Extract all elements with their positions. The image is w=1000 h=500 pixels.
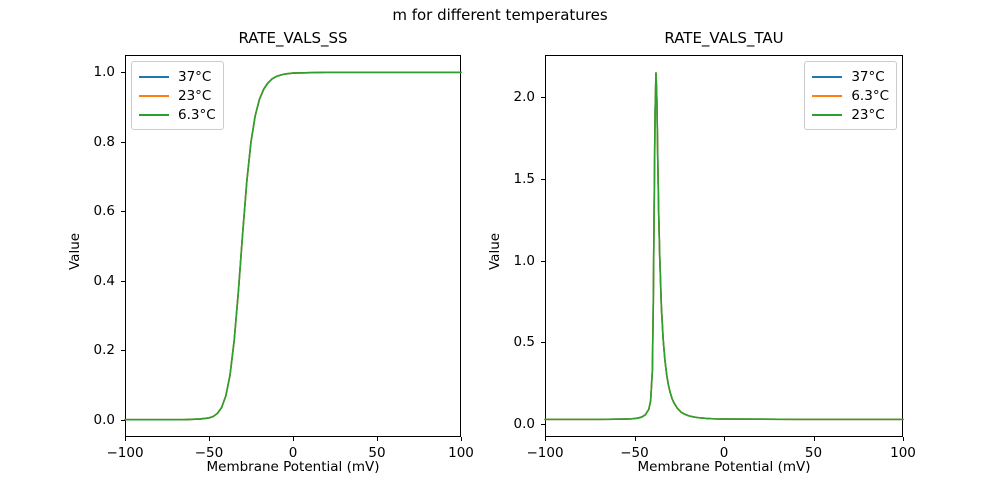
ytick-mark <box>121 350 125 351</box>
ytick-mark <box>541 97 545 98</box>
xtick-mark <box>814 437 815 441</box>
ytick-label: 0.5 <box>489 334 535 350</box>
ytick-mark <box>121 211 125 212</box>
axes-title-ss: RATE_VALS_SS <box>125 29 461 47</box>
ytick-mark <box>121 281 125 282</box>
legend-line-swatch <box>812 95 842 97</box>
xtick-mark <box>293 437 294 441</box>
ytick-mark <box>541 342 545 343</box>
ytick-mark <box>541 261 545 262</box>
xtick-mark <box>125 437 126 441</box>
ytick-mark <box>121 72 125 73</box>
axes-rate-vals-tau: RATE_VALS_TAU −100−500501000.00.51.01.52… <box>545 55 903 437</box>
xtick-mark <box>209 437 210 441</box>
legend-label: 6.3°C <box>851 88 889 104</box>
xtick-mark <box>635 437 636 441</box>
ytick-label: 2.0 <box>489 89 535 105</box>
ytick-label: 0.4 <box>69 273 115 289</box>
xtick-mark <box>724 437 725 441</box>
legend-ss[interactable]: 37°C23°C6.3°C <box>131 61 224 130</box>
ytick-mark <box>541 179 545 180</box>
xlabel-ss: Membrane Potential (mV) <box>125 459 461 475</box>
ytick-label: 0.0 <box>69 412 115 428</box>
legend-tau[interactable]: 37°C6.3°C23°C <box>804 61 897 130</box>
xtick-mark <box>377 437 378 441</box>
ytick-label: 1.0 <box>69 64 115 80</box>
ytick-label: 0.6 <box>69 203 115 219</box>
legend-entry[interactable]: 6.3°C <box>139 105 216 124</box>
legend-label: 37°C <box>851 69 884 85</box>
figure-suptitle: m for different temperatures <box>0 6 1000 24</box>
xtick-mark <box>461 437 462 441</box>
legend-line-swatch <box>812 76 842 78</box>
xlabel-tau: Membrane Potential (mV) <box>545 459 903 475</box>
ylabel-ss: Value <box>67 233 83 270</box>
legend-label: 6.3°C <box>178 107 216 123</box>
legend-entry[interactable]: 6.3°C <box>812 86 889 105</box>
ytick-label: 0.2 <box>69 342 115 358</box>
ytick-mark <box>121 142 125 143</box>
legend-label: 23°C <box>178 88 211 104</box>
ylabel-tau: Value <box>487 233 503 270</box>
legend-line-swatch <box>139 114 169 116</box>
legend-line-swatch <box>139 76 169 78</box>
legend-entry[interactable]: 37°C <box>812 67 889 86</box>
legend-entry[interactable]: 23°C <box>139 86 216 105</box>
legend-line-swatch <box>812 114 842 116</box>
axes-rate-vals-ss: RATE_VALS_SS −100−500501000.00.20.40.60.… <box>125 55 461 437</box>
ytick-label: 1.5 <box>489 171 535 187</box>
matplotlib-figure: m for different temperatures RATE_VALS_S… <box>0 0 1000 500</box>
legend-label: 23°C <box>851 107 884 123</box>
xtick-mark <box>545 437 546 441</box>
ytick-label: 0.0 <box>489 416 535 432</box>
ytick-mark <box>121 420 125 421</box>
legend-entry[interactable]: 23°C <box>812 105 889 124</box>
legend-label: 37°C <box>178 69 211 85</box>
ytick-mark <box>541 424 545 425</box>
axes-title-tau: RATE_VALS_TAU <box>545 29 903 47</box>
xtick-mark <box>903 437 904 441</box>
legend-entry[interactable]: 37°C <box>139 67 216 86</box>
legend-line-swatch <box>139 95 169 97</box>
ytick-label: 0.8 <box>69 134 115 150</box>
